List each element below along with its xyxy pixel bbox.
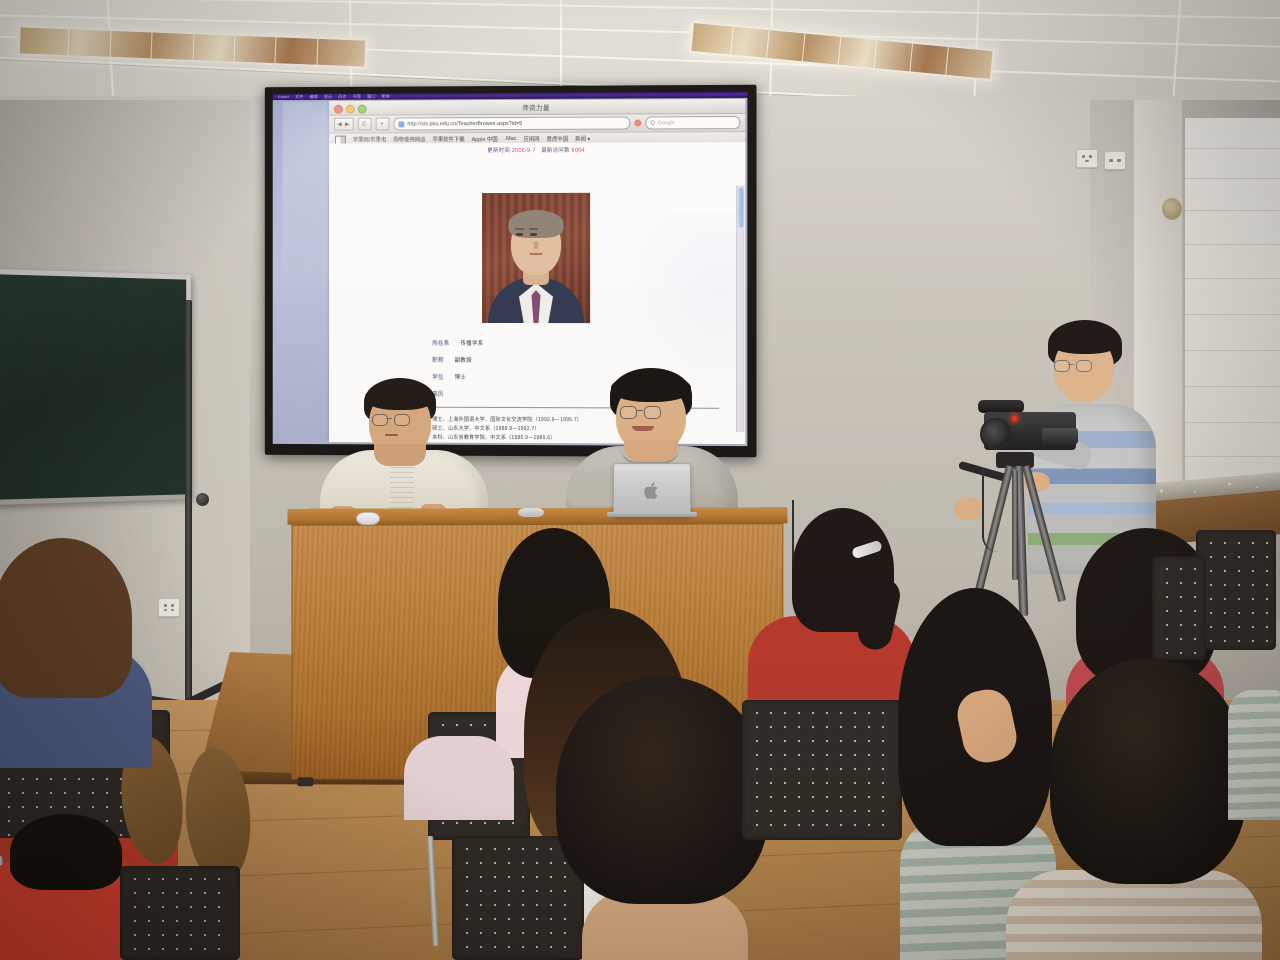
reload-button[interactable]: C xyxy=(358,118,372,131)
field-department: 所在系 传播学系 xyxy=(432,339,719,348)
menubar-item-0[interactable]: 文件 xyxy=(295,94,303,99)
search-icon: Q xyxy=(650,120,654,126)
audience-behind-podium-torso xyxy=(404,736,514,820)
field-title-label: 职称 xyxy=(432,358,444,364)
menubar-item-4[interactable]: 书签 xyxy=(353,94,361,99)
speaker-left-hair-front xyxy=(365,384,435,410)
chair-back xyxy=(742,700,902,840)
camera-operator-glasses xyxy=(1054,360,1114,372)
page-meta-line: 更新时间 2006-9-7 最新访问数 6004 xyxy=(329,142,745,154)
chalkboard xyxy=(0,269,191,505)
audience-foreground-center xyxy=(556,676,771,960)
wall-outlet-right-b xyxy=(1104,151,1126,170)
visits-label: 最新访问数 xyxy=(541,148,570,154)
bookmark-1[interactable]: 购物使用网运 xyxy=(393,135,425,143)
camera-viewfinder xyxy=(1042,428,1078,444)
audience-far-right-arm xyxy=(1228,690,1280,820)
menubar-item-6[interactable]: 帮助 xyxy=(382,94,390,99)
chalkboard-height-knob[interactable] xyxy=(196,493,209,506)
audience-fg-right-hair xyxy=(1050,658,1246,884)
browser-toolbar[interactable]: ◀ ▶ C + http://sis.pku.edu.cn/TeacherBro… xyxy=(329,114,745,134)
field-title-value: 副教授 xyxy=(455,358,472,364)
speaker-left-neck xyxy=(374,444,426,466)
camera-operator-hand-left xyxy=(954,498,984,520)
audience-far-left-hair xyxy=(0,538,132,698)
address-bar[interactable]: http://sis.pku.edu.cn/TeacherBrowse.aspx… xyxy=(393,116,630,130)
speaker-right-glasses xyxy=(618,406,684,418)
search-placeholder: Google xyxy=(658,120,675,126)
wall-speaker-fixture xyxy=(1162,198,1182,220)
field-department-value: 传播学系 xyxy=(460,341,483,347)
speaker-right-neck xyxy=(624,440,678,462)
chalkboard-surface xyxy=(0,274,186,500)
laptop-base xyxy=(607,512,697,517)
bookmark-0[interactable]: 苹果网/苹果电 xyxy=(353,135,387,143)
camera-lens xyxy=(980,418,1012,450)
chair-back xyxy=(1152,556,1206,660)
wall-outlet-right-a xyxy=(1076,149,1098,168)
bookmark-6[interactable]: 意虎中国 xyxy=(547,135,569,143)
bookmark-5[interactable]: 应用网 xyxy=(523,135,539,143)
window-blinds xyxy=(1183,118,1280,483)
tripod-center-column xyxy=(1012,470,1018,580)
chair-left-lower[interactable] xyxy=(120,866,250,960)
podium-foot-left xyxy=(297,777,313,786)
laptop-lid xyxy=(613,463,691,517)
window-title: 师资力量 xyxy=(329,101,745,113)
computer-mouse[interactable] xyxy=(356,512,380,525)
audience-far-left xyxy=(0,538,162,768)
stop-reload-icon[interactable] xyxy=(634,119,641,126)
url-text: http://sis.pku.edu.cn/TeacherBrowse.aspx… xyxy=(407,120,522,126)
field-title: 职称 副教授 xyxy=(432,356,719,365)
audience-foreground-right xyxy=(1012,658,1262,960)
back-forward-button[interactable]: ◀ ▶ xyxy=(334,118,354,131)
chalkboard-frame xyxy=(0,269,191,505)
speaker-right-hair-front xyxy=(611,374,691,402)
visits-value: 6004 xyxy=(572,148,585,154)
camera-cable xyxy=(982,468,998,552)
classroom-scene: Safari 文件 编辑 显示 历史 书签 窗口 帮助 师资力量 xyxy=(0,0,1280,960)
bookmark-7[interactable]: 新闻 ▾ xyxy=(575,135,590,143)
update-time-value: 2006-9-7 xyxy=(512,148,536,154)
bookmark-3[interactable]: Apple 中国 xyxy=(472,135,498,143)
window-titlebar[interactable]: 师资力量 xyxy=(329,99,745,116)
faculty-portrait-photo xyxy=(482,193,590,323)
microphone-base xyxy=(518,508,544,517)
chair-back xyxy=(120,866,240,960)
camera-record-indicator xyxy=(1012,416,1017,421)
chair-far-right-b[interactable] xyxy=(1152,556,1212,666)
speaker-left xyxy=(312,378,492,528)
chair-right-of-center[interactable] xyxy=(742,700,912,870)
speaker-left-mouth xyxy=(385,434,398,436)
speaker-left-glasses xyxy=(370,414,432,426)
apple-logo-icon xyxy=(643,481,660,501)
camera-operator-hair-front xyxy=(1049,328,1121,354)
favicon-icon xyxy=(398,121,404,127)
menubar-item-3[interactable]: 历史 xyxy=(338,94,346,99)
scrollbar-thumb[interactable] xyxy=(738,187,743,227)
search-input[interactable]: Q Google xyxy=(645,116,740,129)
field-department-label: 所在系 xyxy=(432,341,449,347)
camcorder[interactable] xyxy=(980,398,1080,460)
bookmark-2[interactable]: 苹果软件下载 xyxy=(432,135,464,143)
add-bookmark-button[interactable]: + xyxy=(376,118,390,131)
menubar-item-1[interactable]: 编辑 xyxy=(310,94,318,99)
chalkboard-stand-post xyxy=(185,300,192,705)
update-time-label: 更新时间 xyxy=(487,148,510,154)
speaker-right-smile xyxy=(632,426,654,431)
menubar-app[interactable]: Safari xyxy=(278,94,290,99)
bookmark-4[interactable]: .Mac xyxy=(505,136,517,142)
audience-behind-podium-left xyxy=(398,640,518,820)
menubar-item-5[interactable]: 窗口 xyxy=(367,94,375,99)
audience-left-red-hair xyxy=(10,814,122,890)
menubar-item-2[interactable]: 显示 xyxy=(324,94,332,99)
audience-fg-center-hair xyxy=(556,676,768,904)
